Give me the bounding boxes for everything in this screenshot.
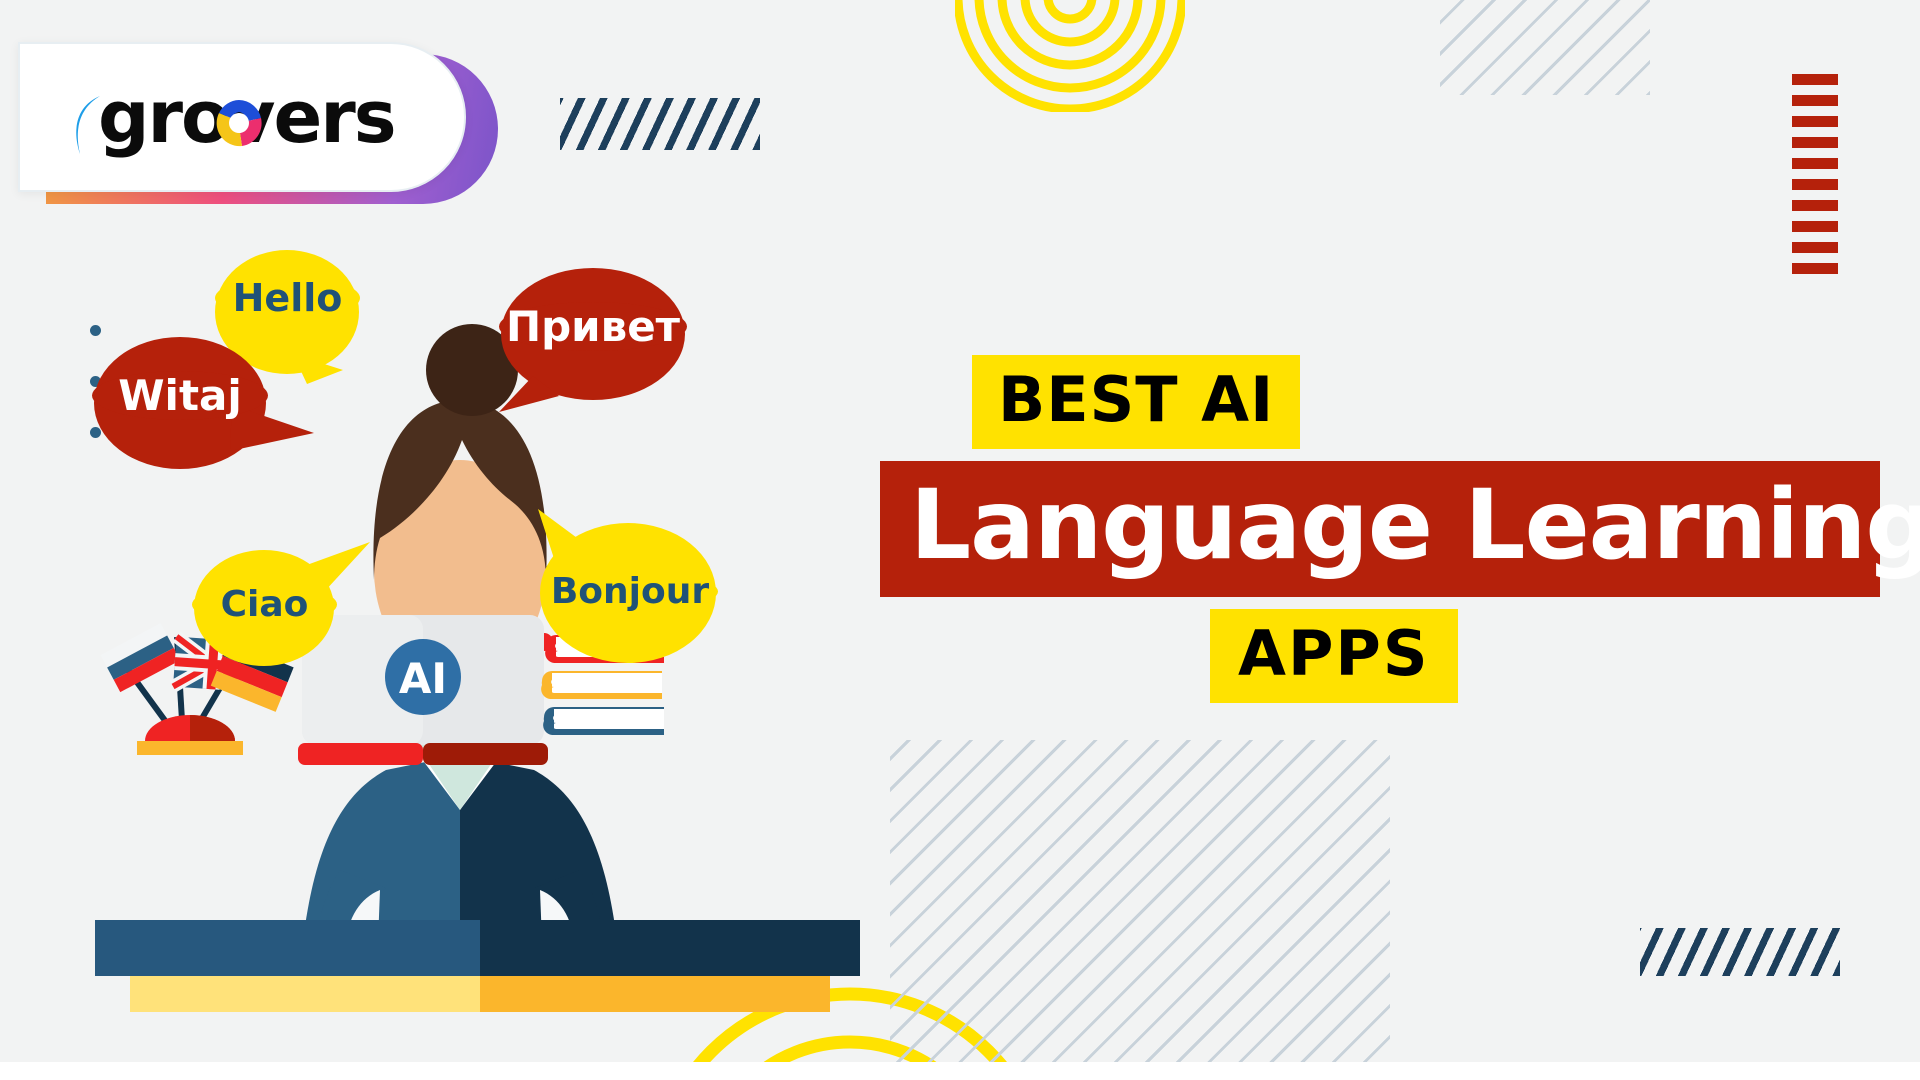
- poster-canvas: grovers BEST AI Language Learning APPS: [0, 0, 1920, 1080]
- desk-surface-right: [480, 920, 860, 976]
- desk-surface-left: [95, 920, 480, 976]
- speech-bubble-witaj-label: Witaj: [92, 371, 268, 420]
- speech-bubble-ciao-label: Ciao: [192, 584, 337, 625]
- diagonal-hatch-gray-large-icon: [890, 740, 1390, 1070]
- brand-logo[interactable]: grovers: [18, 42, 478, 202]
- diagonal-hatch-gray-top-icon: [1440, 0, 1650, 95]
- diagonal-hatch-navy-top-icon: [560, 98, 760, 150]
- speech-bubble-ciao: Ciao: [192, 540, 352, 660]
- arc-rings-top-icon: [955, 0, 1185, 112]
- headline-best-ai: BEST AI: [972, 355, 1300, 449]
- svg-text:AI: AI: [399, 654, 447, 703]
- diagonal-hatch-navy-bottom-icon: [1640, 928, 1840, 976]
- speech-bubble-hello-label: Hello: [215, 276, 360, 320]
- logo-card: grovers: [18, 42, 466, 192]
- speech-bubble-privet-label: Привет: [499, 302, 687, 351]
- headline-block: BEST AI Language Learning APPS: [880, 355, 1880, 703]
- speech-bubble-bonjour: Bonjour: [520, 505, 720, 655]
- red-bar-stack-icon: [1792, 74, 1838, 274]
- desk-shelf-left: [130, 976, 480, 1012]
- speech-bubble-privet-shape: [485, 268, 695, 443]
- desk-shelf-right: [480, 976, 830, 1012]
- speech-bubble-bonjour-label: Bonjour: [542, 571, 718, 612]
- illustration-woman-learning-languages: AI: [60, 240, 860, 1000]
- speech-bubble-privet: Привет: [485, 268, 685, 413]
- speech-bubble-witaj: Witaj: [92, 333, 292, 478]
- logo-ring-icon: [212, 96, 266, 150]
- headline-language-learning: Language Learning: [880, 461, 1880, 597]
- bottom-white-strip: [0, 1062, 1920, 1080]
- headline-apps: APPS: [1210, 609, 1458, 703]
